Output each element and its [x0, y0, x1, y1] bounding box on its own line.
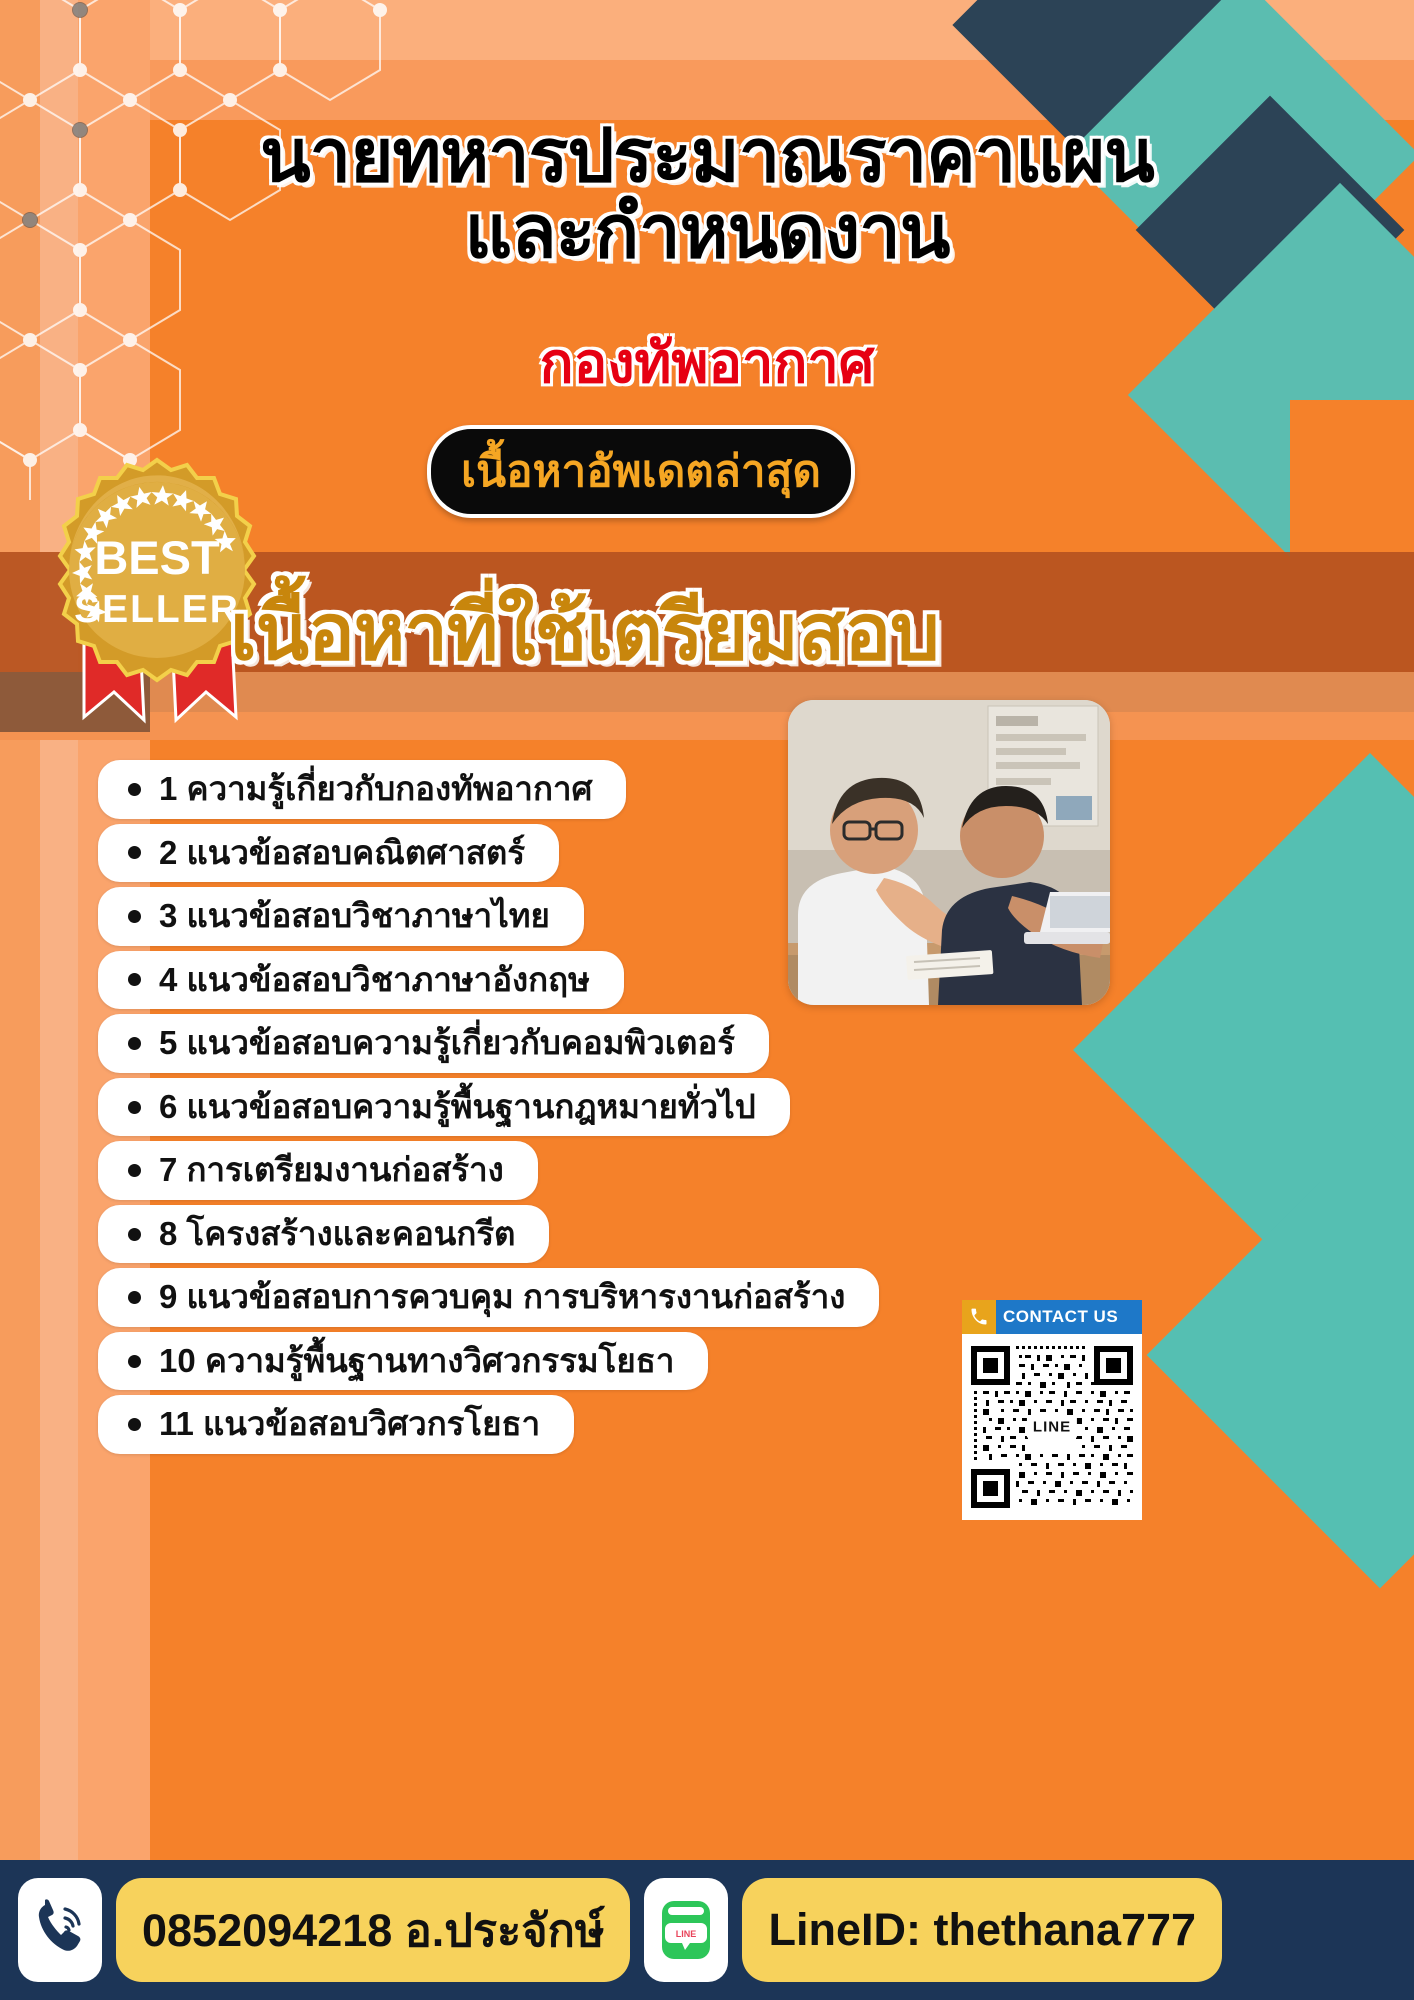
list-item: 1 ความรู้เกี่ยวกับกองทัพอากาศ	[98, 760, 626, 819]
list-item: 4 แนวข้อสอบวิชาภาษาอังกฤษ	[98, 951, 624, 1010]
list-item: 3 แนวข้อสอบวิชาภาษาไทย	[98, 887, 584, 946]
phone-call-icon[interactable]	[18, 1878, 102, 1982]
bullet-dot-icon	[128, 973, 141, 986]
list-item-label: 3 แนวข้อสอบวิชาภาษาไทย	[159, 894, 550, 939]
best-seller-top-text: BEST	[94, 531, 220, 584]
list-item-label: 1 ความรู้เกี่ยวกับกองทัพอากาศ	[159, 767, 592, 812]
best-seller-bottom-text: SELLER	[74, 588, 240, 631]
page-title: นายทหารประมาณราคาแผน และกำหนดงาน	[0, 118, 1414, 270]
contact-us-label: CONTACT US	[996, 1307, 1118, 1327]
list-item-label: 7 การเตรียมงานก่อสร้าง	[159, 1148, 504, 1193]
list-item-label: 6 แนวข้อสอบความรู้พื้นฐานกฎหมายทั่วไป	[159, 1085, 756, 1130]
list-item: 7 การเตรียมงานก่อสร้าง	[98, 1141, 538, 1200]
bullet-dot-icon	[128, 1291, 141, 1304]
list-item: 10 ความรู้พื้นฐานทางวิศวกรรมโยธา	[98, 1332, 708, 1391]
phone-number-label: 0852094218 อ.ประจักษ์	[142, 1894, 604, 1966]
list-item: 6 แนวข้อสอบความรู้พื้นฐานกฎหมายทั่วไป	[98, 1078, 790, 1137]
subtitle-organization: กองทัพอากาศ	[0, 318, 1414, 407]
bullet-dot-icon	[128, 1228, 141, 1241]
line-app-icon[interactable]: LINE	[644, 1878, 728, 1982]
bullet-dot-icon	[128, 1164, 141, 1177]
topics-list: 1 ความรู้เกี่ยวกับกองทัพอากาศ 2 แนวข้อสอ…	[98, 760, 998, 1459]
page-title-line-1: นายทหารประมาณราคาแผน	[260, 114, 1154, 197]
update-badge-label: เนื้อหาอัพเดตล่าสุด	[461, 450, 821, 494]
bullet-dot-icon	[128, 1418, 141, 1431]
qr-code-image[interactable]: LINE	[962, 1334, 1142, 1520]
footer-contact-bar: 0852094218 อ.ประจักษ์ LINE LineID: theth…	[0, 1860, 1414, 2000]
list-item-label: 4 แนวข้อสอบวิชาภาษาอังกฤษ	[159, 958, 590, 1003]
contact-us-bar: CONTACT US	[962, 1300, 1142, 1334]
list-item-label: 10 ความรู้พื้นฐานทางวิศวกรรมโยธา	[159, 1339, 674, 1384]
line-id-pill: LineID: thethana777	[742, 1878, 1222, 1982]
bullet-dot-icon	[128, 1037, 141, 1050]
bullet-dot-icon	[128, 846, 141, 859]
phone-number-pill: 0852094218 อ.ประจักษ์	[116, 1878, 630, 1982]
bullet-dot-icon	[128, 1355, 141, 1368]
list-item-label: 11 แนวข้อสอบวิศวกรโยธา	[159, 1402, 540, 1447]
list-item: 11 แนวข้อสอบวิศวกรโยธา	[98, 1395, 574, 1454]
list-item-label: 5 แนวข้อสอบความรู้เกี่ยวกับคอมพิวเตอร์	[159, 1021, 735, 1066]
line-id-label: LineID: thethana777	[768, 1904, 1196, 1956]
list-item-label: 8 โครงสร้างและคอนกรีต	[159, 1212, 515, 1257]
bullet-dot-icon	[128, 910, 141, 923]
list-item: 2 แนวข้อสอบคณิตศาสตร์	[98, 824, 559, 883]
page-title-line-2: และกำหนดงาน	[60, 194, 1354, 270]
list-item-label: 2 แนวข้อสอบคณิตศาสตร์	[159, 831, 525, 876]
bullet-dot-icon	[128, 1101, 141, 1114]
qr-contact-block[interactable]: CONTACT US	[962, 1300, 1142, 1520]
qr-line-label: LINE	[1027, 1417, 1077, 1438]
phone-icon	[962, 1300, 996, 1334]
update-badge: เนื้อหาอัพเดตล่าสุด	[427, 425, 855, 518]
section-heading: เนื้อหาที่ใช้เตรียมสอบ	[230, 570, 1130, 694]
line-icon-text: LINE	[676, 1929, 697, 1939]
poster-root: นายทหารประมาณราคาแผน และกำหนดงาน กองทัพอ…	[0, 0, 1414, 2000]
list-item: 9 แนวข้อสอบการควบคุม การบริหารงานก่อสร้า…	[98, 1268, 879, 1327]
list-item-label: 9 แนวข้อสอบการควบคุม การบริหารงานก่อสร้า…	[159, 1275, 845, 1320]
bullet-dot-icon	[128, 783, 141, 796]
list-item: 8 โครงสร้างและคอนกรีต	[98, 1205, 549, 1264]
list-item: 5 แนวข้อสอบความรู้เกี่ยวกับคอมพิวเตอร์	[98, 1014, 769, 1073]
